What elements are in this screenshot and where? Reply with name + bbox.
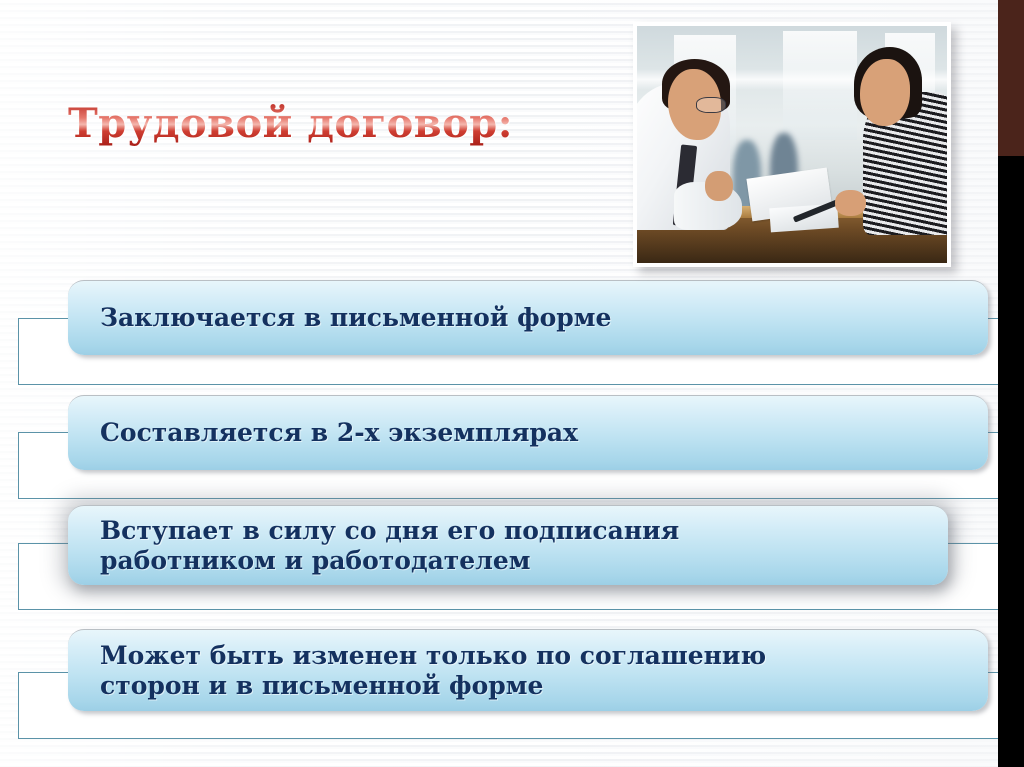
- flow-pill-4[interactable]: Может быть изменен только по соглашению …: [68, 629, 988, 711]
- photo-man-hand: [705, 171, 733, 202]
- photo-woman-hand: [835, 190, 866, 216]
- right-edge-bar-black: [998, 156, 1024, 767]
- photo-man-glasses: [696, 97, 726, 113]
- flow-pill-1[interactable]: Заключается в письменной форме: [68, 280, 988, 355]
- flow-pill-4-label: Может быть изменен только по соглашению …: [68, 641, 780, 700]
- flow-pill-1-label: Заключается в письменной форме: [68, 303, 625, 333]
- flow-pill-3-label: Вступает в силу со дня его подписания ра…: [68, 516, 693, 575]
- flow-pill-3[interactable]: Вступает в силу со дня его подписания ра…: [68, 505, 948, 585]
- right-edge-bar-brown: [998, 0, 1024, 156]
- presentation-slide: Трудовой договор: Заключается в письменн…: [0, 0, 1024, 767]
- photo-woman-head: [860, 59, 910, 125]
- flow-pill-2[interactable]: Составляется в 2-х экземплярах: [68, 395, 988, 470]
- flow-pill-2-label: Составляется в 2-х экземплярах: [68, 418, 592, 448]
- photo-canvas: [637, 26, 947, 263]
- slide-title: Трудовой договор:: [68, 100, 513, 147]
- contract-signing-photo: [633, 22, 951, 267]
